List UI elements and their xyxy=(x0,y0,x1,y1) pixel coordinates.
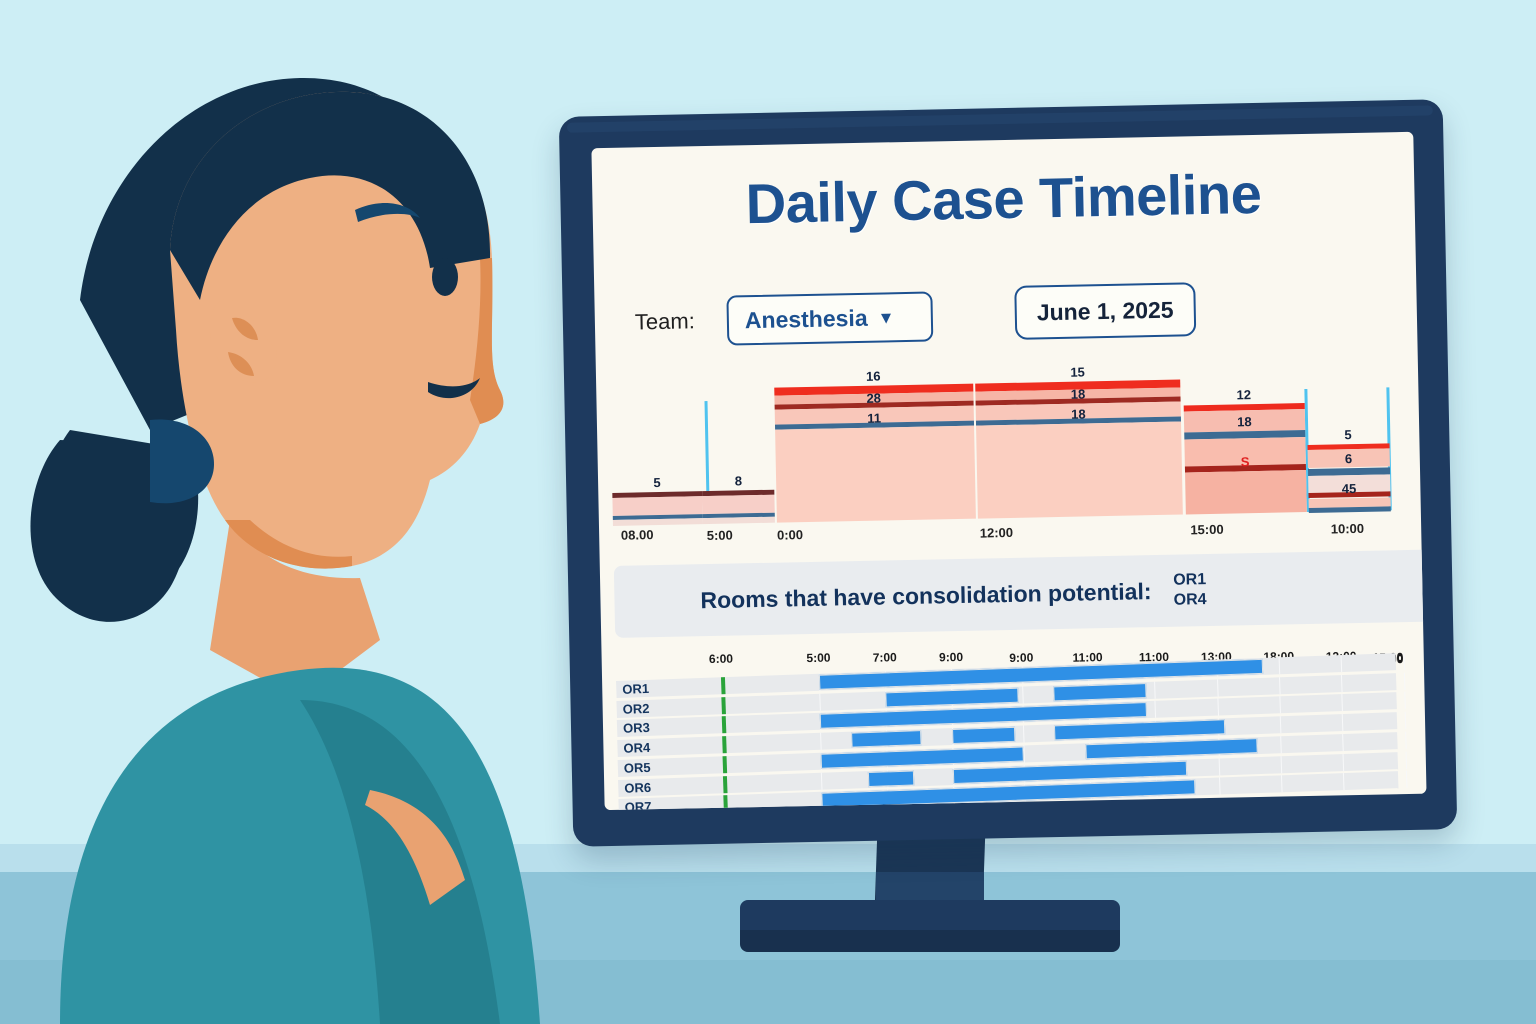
gantt-row-label: OR5 xyxy=(624,758,669,776)
consolidation-banner: Rooms that have consolidation potential:… xyxy=(614,549,1427,638)
monitor-screen: Daily Case Timeline Team: Anesthesia ▼ J… xyxy=(591,132,1426,810)
stacked-bar-segment xyxy=(775,426,976,523)
gantt-case-block[interactable] xyxy=(952,727,1015,744)
stacked-bar[interactable]: 162811 xyxy=(774,384,976,523)
gantt-gridline xyxy=(1403,653,1405,670)
stacked-bar-value-label: 5 xyxy=(653,475,661,490)
gantt-current-time-marker xyxy=(722,697,727,714)
gantt-row-label: OR7 xyxy=(624,798,669,811)
stacked-case-chart: 581628111518181218S5645 08.005:000:0012:… xyxy=(610,360,1393,552)
gantt-case-block[interactable] xyxy=(851,730,922,747)
team-select[interactable]: Anesthesia ▼ xyxy=(726,291,933,345)
gantt-gridline xyxy=(1406,771,1408,788)
gantt-current-time-marker xyxy=(723,756,728,773)
ponytail xyxy=(30,420,214,622)
gantt-current-time-marker xyxy=(723,776,728,793)
gantt-current-time-marker xyxy=(721,677,726,694)
chevron-down-icon: ▼ xyxy=(877,309,894,326)
team-label: Team: xyxy=(635,308,695,335)
stacked-bar-value-label: 5 xyxy=(1344,427,1352,442)
stacked-bar[interactable]: 5 xyxy=(612,491,702,526)
chart-x-tick: 0:00 xyxy=(777,527,803,543)
consolidation-room: OR4 xyxy=(1173,590,1206,610)
gantt-current-time-marker xyxy=(722,717,727,734)
controls-bar: Team: Anesthesia ▼ June 1, 2025 xyxy=(634,283,1377,350)
date-button[interactable]: June 1, 2025 xyxy=(1014,282,1196,340)
gantt-gridline xyxy=(1405,732,1407,749)
stacked-bar-value-label: 6 xyxy=(1345,451,1353,466)
consolidation-banner-text: Rooms that have consolidation potential: xyxy=(700,578,1152,614)
chart-x-tick: 08.00 xyxy=(621,527,654,543)
gantt-row-label: OR1 xyxy=(622,679,667,697)
monitor: Daily Case Timeline Team: Anesthesia ▼ J… xyxy=(559,99,1457,847)
date-value: June 1, 2025 xyxy=(1037,296,1174,326)
chart-x-tick: 5:00 xyxy=(707,527,733,543)
stacked-bar[interactable]: 8 xyxy=(703,490,775,524)
stacked-bar-value-label: 15 xyxy=(1070,364,1085,379)
stacked-bar-value-label: 28 xyxy=(866,390,881,405)
stacked-bar-value-label: S xyxy=(1241,454,1250,469)
chart-x-tick: 10:00 xyxy=(1331,521,1365,537)
gantt-time-tick: 5:00 xyxy=(806,651,830,665)
gantt-time-tick: 11:00 xyxy=(1072,650,1102,665)
stacked-bar-value-label: 12 xyxy=(1236,387,1251,402)
gantt-gridline xyxy=(1404,712,1406,729)
face xyxy=(170,92,503,569)
gantt-row-label: OR3 xyxy=(623,719,668,737)
or-gantt-chart: 6:005:007:009:009:0011:0011:0013:0018:00… xyxy=(616,638,1399,810)
consolidation-room: OR1 xyxy=(1173,571,1206,591)
stacked-bar[interactable]: 151818 xyxy=(975,380,1183,519)
gantt-case-block[interactable] xyxy=(1085,738,1257,759)
stacked-bar[interactable]: 1218S xyxy=(1183,403,1307,515)
gantt-current-time-marker xyxy=(724,795,729,810)
stacked-bar-value-label: 18 xyxy=(1237,414,1252,429)
stacked-bar-value-label: 8 xyxy=(735,473,743,488)
stacked-bar-segment xyxy=(612,496,702,516)
gantt-row-label: OR6 xyxy=(624,778,669,796)
stacked-bar-segment xyxy=(976,422,1183,519)
consolidation-room-list: OR1OR4 xyxy=(1173,571,1207,611)
page-title: Daily Case Timeline xyxy=(592,158,1415,239)
stacked-bar-value-label: 45 xyxy=(1342,481,1357,496)
gantt-time-tick: 6:00 xyxy=(709,652,733,666)
gantt-time-tick: 7:00 xyxy=(873,651,897,665)
gantt-gridline xyxy=(1404,692,1406,709)
stacked-bar-value-label: 18 xyxy=(1071,386,1086,401)
stacked-bar-segment xyxy=(703,494,775,513)
gantt-current-time-marker xyxy=(722,736,727,753)
gantt-gridline xyxy=(1404,673,1406,690)
stacked-bar-segment xyxy=(1185,470,1307,514)
stacked-chart-plot: 581628111518181218S5645 xyxy=(610,360,1393,526)
stacked-bar-value-label: 11 xyxy=(867,411,881,426)
chart-x-tick: 12:00 xyxy=(980,525,1014,541)
stacked-bar[interactable]: 5645 xyxy=(1307,443,1390,512)
gantt-gridline xyxy=(1405,751,1407,768)
gantt-case-block[interactable] xyxy=(867,770,914,786)
chart-x-tick: 15:00 xyxy=(1190,522,1224,538)
gantt-time-tick: 9:00 xyxy=(939,650,963,664)
stacked-bar-value-label: 18 xyxy=(1071,406,1086,421)
scene: Daily Case Timeline Team: Anesthesia ▼ J… xyxy=(0,0,1536,1024)
person-illustration xyxy=(0,0,620,1024)
gantt-row-label: OR2 xyxy=(622,699,667,717)
gantt-time-tick: 9:00 xyxy=(1009,650,1033,664)
monitor-base-front xyxy=(740,930,1120,952)
stacked-bar-value-label: 16 xyxy=(866,369,881,384)
gantt-rows: OR1OR2OR3OR4OR5OR6OR7 xyxy=(616,658,1399,810)
gantt-row-label: OR4 xyxy=(623,738,668,756)
gantt-case-block[interactable] xyxy=(1053,683,1147,701)
team-select-value: Anesthesia xyxy=(745,304,868,333)
app-screen: Daily Case Timeline Team: Anesthesia ▼ J… xyxy=(591,132,1426,810)
